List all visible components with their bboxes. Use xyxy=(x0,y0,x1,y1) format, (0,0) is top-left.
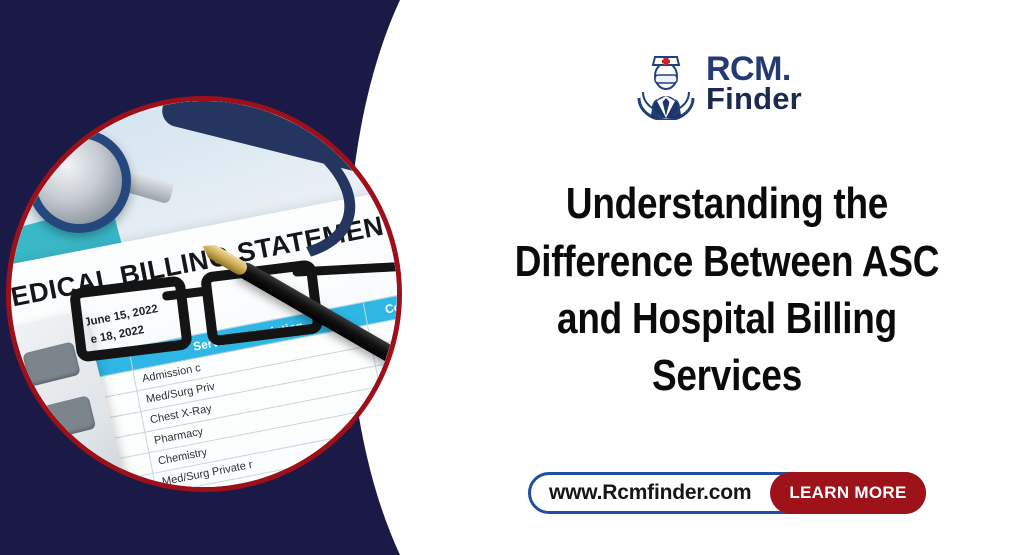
brand-logo[interactable]: RCM. Finder xyxy=(635,48,802,120)
learn-more-button[interactable]: LEARN MORE xyxy=(770,472,926,514)
headline-line-3: and Hospital Billing xyxy=(483,290,972,347)
hero-photo-inner: MEDICAL BILLING STATEMENT Admission Date… xyxy=(11,101,397,487)
headline-line-2: Difference Between ASC xyxy=(483,233,972,290)
banner-root: MEDICAL BILLING STATEMENT Admission Date… xyxy=(0,0,1024,555)
doctor-avatar-icon xyxy=(635,48,697,120)
stethoscope-head-icon xyxy=(27,129,131,233)
calculator-key xyxy=(11,345,18,391)
plus-icon: + xyxy=(11,413,21,446)
cta-bar[interactable]: www.Rcmfinder.com LEARN MORE xyxy=(528,472,926,514)
content-column: RCM. Finder Understanding the Difference… xyxy=(430,0,1024,555)
calculator-plus-key: + xyxy=(11,394,42,465)
logo-wordmark: RCM. Finder xyxy=(706,54,802,114)
calculator-key xyxy=(22,341,81,387)
website-url-text[interactable]: www.Rcmfinder.com xyxy=(549,481,751,505)
photo-scene: MEDICAL BILLING STATEMENT Admission Date… xyxy=(11,101,397,487)
page-title: Understanding the Difference Between ASC… xyxy=(478,175,977,404)
headline-line-4: Services xyxy=(483,347,972,404)
logo-secondary-text: Finder xyxy=(706,85,802,114)
headline-line-1: Understanding the xyxy=(483,175,972,232)
hero-photo-circle: MEDICAL BILLING STATEMENT Admission Date… xyxy=(6,96,402,492)
calculator-key xyxy=(43,395,96,439)
eyeglasses-left-lens xyxy=(69,275,193,363)
